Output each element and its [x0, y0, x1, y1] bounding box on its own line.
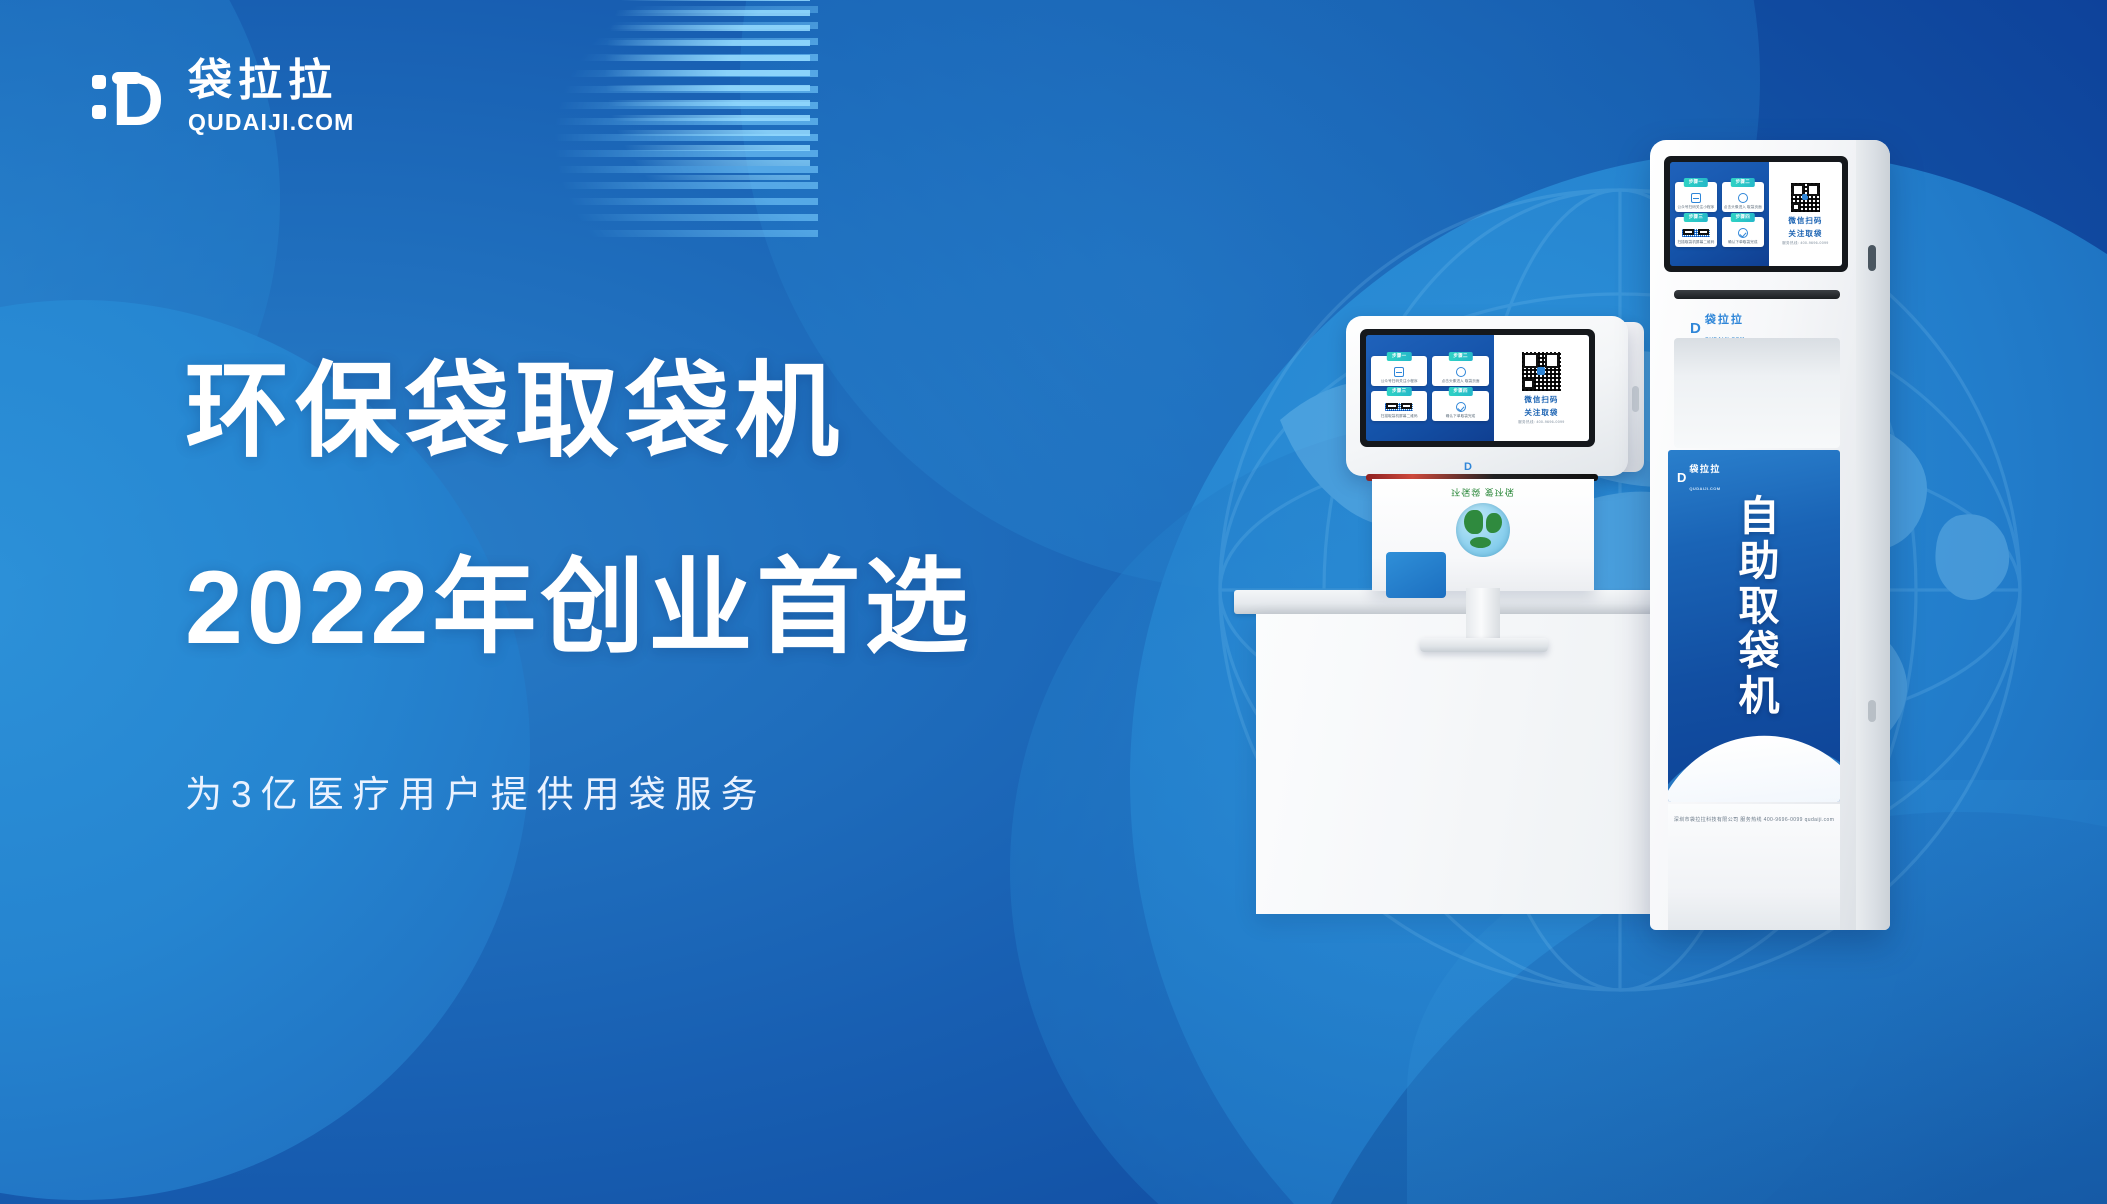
- kiosk-ui-qr-panel: 微信扫码 关注取袋 服务热线: 400-9696-0099: [1494, 335, 1589, 441]
- promo-banner: D 袋拉拉 QUDAIJI.COM 环保袋取袋机 2022年创业首选 为3亿医疗…: [0, 0, 2107, 1204]
- qr-code-icon: [1384, 402, 1414, 412]
- step-text: 公众号扫码关注小程序: [1677, 205, 1714, 209]
- scan-frame-icon: [1691, 193, 1701, 203]
- step-card[interactable]: 步骤二 点击头像进入 取袋页面: [1432, 356, 1488, 386]
- check-circle-icon: [1738, 228, 1748, 238]
- step-tag: 步骤一: [1684, 178, 1708, 187]
- step-tag: 步骤一: [1387, 352, 1411, 361]
- signage-vertical-title-wrap: 自助取袋机: [1668, 494, 1840, 719]
- signage-logo-name-en: QUDAIJI.COM: [1689, 486, 1720, 491]
- step-card[interactable]: 步骤一 公众号扫码关注小程序: [1371, 356, 1427, 386]
- wechat-qr-code-icon[interactable]: [1521, 351, 1562, 392]
- check-circle-icon: [1456, 402, 1466, 412]
- step-tag: 步骤二: [1731, 178, 1755, 187]
- kiosk-lock-icon: [1868, 700, 1876, 722]
- hero-copy: 环保袋取袋机 2022年创业首选 为3亿医疗用户提供用袋服务: [185, 360, 972, 818]
- stand-base: [1420, 638, 1548, 652]
- kiosk-side-column: [1856, 140, 1890, 930]
- floor-standing-kiosk[interactable]: 步骤一 公众号扫码关注小程序 步骤二 点击头像进入 取袋页面 步骤三: [1650, 140, 1910, 940]
- qr-finder-icon: [1523, 379, 1533, 389]
- step-card[interactable]: 步骤四 确认下单取袋完成: [1432, 391, 1488, 421]
- qr-code-icon: [1681, 228, 1711, 238]
- kiosk-logo-mark-icon: D: [1690, 320, 1700, 337]
- logo-mark-icon: D: [92, 58, 170, 136]
- kiosk-ui-steps: 步骤一 公众号扫码关注小程序 步骤二 点击头像进入 取袋页面 步骤三: [1670, 162, 1769, 266]
- logo-dot-lower-icon: [92, 105, 106, 119]
- machine-icon: [1456, 367, 1466, 377]
- desktop-unit-head: 步骤一 公众号扫码关注小程序 步骤二 点击头像进入 取袋页面 步骤三: [1346, 316, 1628, 476]
- wechat-qr-code-icon[interactable]: [1790, 182, 1821, 213]
- kiosk-ui-steps: 步骤一 公众号扫码关注小程序 步骤二 点击头像进入 取袋页面 步骤三: [1366, 335, 1494, 441]
- signage-logo: D 袋拉拉 QUDAIJI.COM: [1677, 459, 1721, 495]
- desktop-unit-bezel-logo: D: [1464, 461, 1472, 473]
- step-tag: 步骤四: [1731, 213, 1755, 222]
- kiosk-ui: 步骤一 公众号扫码关注小程序 步骤二 点击头像进入 取袋页面 步骤三: [1670, 162, 1842, 266]
- logo-letter-d: D: [112, 70, 162, 132]
- step-card[interactable]: 步骤一 公众号扫码关注小程序: [1675, 182, 1717, 212]
- side-button-icon[interactable]: [1632, 386, 1639, 412]
- headline-secondary: 2022年创业首选: [185, 556, 972, 660]
- stand-neck: [1466, 588, 1500, 642]
- step-text: 扫描取袋机屏幕二维码: [1677, 240, 1714, 244]
- qr-caption-line2: 关注取袋: [1788, 229, 1822, 239]
- scan-frame-icon: [1394, 367, 1404, 377]
- stripe-pattern-highlight: [560, 0, 810, 180]
- logo-wordmark: 袋拉拉 QUDAIJI.COM: [188, 58, 355, 137]
- kiosk-logo-name-cn: 袋拉拉: [1705, 314, 1744, 326]
- machine-icon: [1738, 193, 1748, 203]
- qr-caption-line1: 微信扫码: [1788, 216, 1822, 226]
- signage-logo-name-cn: 袋拉拉: [1689, 464, 1721, 474]
- kiosk-footer-panel: 深圳市袋拉拉科技有限公司 服务热线 400-9696-0099 qudaiji.…: [1668, 804, 1840, 930]
- step-text: 点击头像进入 取袋页面: [1724, 205, 1762, 209]
- brand-logo[interactable]: D 袋拉拉 QUDAIJI.COM: [92, 58, 355, 137]
- step-card[interactable]: 步骤三 扫描取袋机屏幕二维码: [1675, 217, 1717, 247]
- step-card[interactable]: 步骤二 点击头像进入 取袋页面: [1722, 182, 1764, 212]
- signage-wave-white: [1668, 724, 1840, 802]
- signage-logo-mark-icon: D: [1677, 470, 1685, 485]
- desktop-unit-touchscreen[interactable]: 步骤一 公众号扫码关注小程序 步骤二 点击头像进入 取袋页面 步骤三: [1360, 329, 1595, 447]
- kiosk-dispense-slot: [1674, 290, 1840, 299]
- qr-subtext: 服务热线: 400-9696-0099: [1782, 241, 1828, 246]
- step-tag: 步骤二: [1448, 352, 1472, 361]
- qr-caption-line1: 微信扫码: [1524, 395, 1558, 405]
- qr-subtext: 服务热线: 400-9696-0099: [1518, 420, 1564, 425]
- kiosk-contact-line: 深圳市袋拉拉科技有限公司 服务热线 400-9696-0099 qudaiji.…: [1668, 816, 1840, 823]
- step-text: 点击头像进入 取袋页面: [1442, 379, 1480, 383]
- kiosk-blue-signage-panel: D 袋拉拉 QUDAIJI.COM 自助取袋机: [1668, 450, 1840, 802]
- step-text: 确认下单取袋完成: [1728, 240, 1758, 244]
- step-tag: 步骤四: [1448, 387, 1472, 396]
- qr-caption-line2: 关注取袋: [1524, 408, 1558, 418]
- bag-slogan: 环保袋 爱环保: [1451, 486, 1515, 499]
- kiosk-ui-qr-panel: 微信扫码 关注取袋 服务热线: 400-9696-0099: [1769, 162, 1842, 266]
- step-text: 确认下单取袋完成: [1446, 414, 1476, 418]
- earth-globe-icon: [1456, 503, 1510, 557]
- signage-vertical-title: 自助取袋机: [1731, 494, 1777, 719]
- product-scene: 步骤一 公众号扫码关注小程序 步骤二 点击头像进入 取袋页面 步骤三: [1150, 140, 2050, 1070]
- qr-logo-icon: [1802, 194, 1808, 200]
- stripe-pattern: [468, 0, 818, 240]
- hero-subline: 为3亿医疗用户提供用袋服务: [185, 764, 972, 818]
- desktop-unit-stand: [1420, 588, 1548, 654]
- step-tag: 步骤三: [1387, 387, 1411, 396]
- step-tag: 步骤三: [1684, 213, 1708, 222]
- qr-finder-icon: [1792, 203, 1800, 211]
- headline-primary: 环保袋取袋机: [185, 360, 972, 464]
- step-card[interactable]: 步骤四 确认下单取袋完成: [1722, 217, 1764, 247]
- qr-logo-icon: [1537, 367, 1545, 375]
- kiosk-bag-recess: [1674, 338, 1840, 448]
- logo-name-cn: 袋拉拉: [188, 58, 355, 104]
- logo-dot-upper-icon: [92, 75, 106, 89]
- kiosk-ui: 步骤一 公众号扫码关注小程序 步骤二 点击头像进入 取袋页面 步骤三: [1366, 335, 1589, 441]
- step-text: 公众号扫码关注小程序: [1381, 379, 1418, 383]
- step-text: 扫描取袋机屏幕二维码: [1381, 414, 1418, 418]
- kiosk-touchscreen[interactable]: 步骤一 公众号扫码关注小程序 步骤二 点击头像进入 取袋页面 步骤三: [1664, 156, 1848, 272]
- step-card[interactable]: 步骤三 扫描取袋机屏幕二维码: [1371, 391, 1427, 421]
- logo-name-en: QUDAIJI.COM: [188, 108, 355, 137]
- kiosk-vent-icon: [1868, 245, 1876, 271]
- desktop-bag-dispenser[interactable]: 步骤一 公众号扫码关注小程序 步骤二 点击头像进入 取袋页面 步骤三: [1346, 316, 1646, 616]
